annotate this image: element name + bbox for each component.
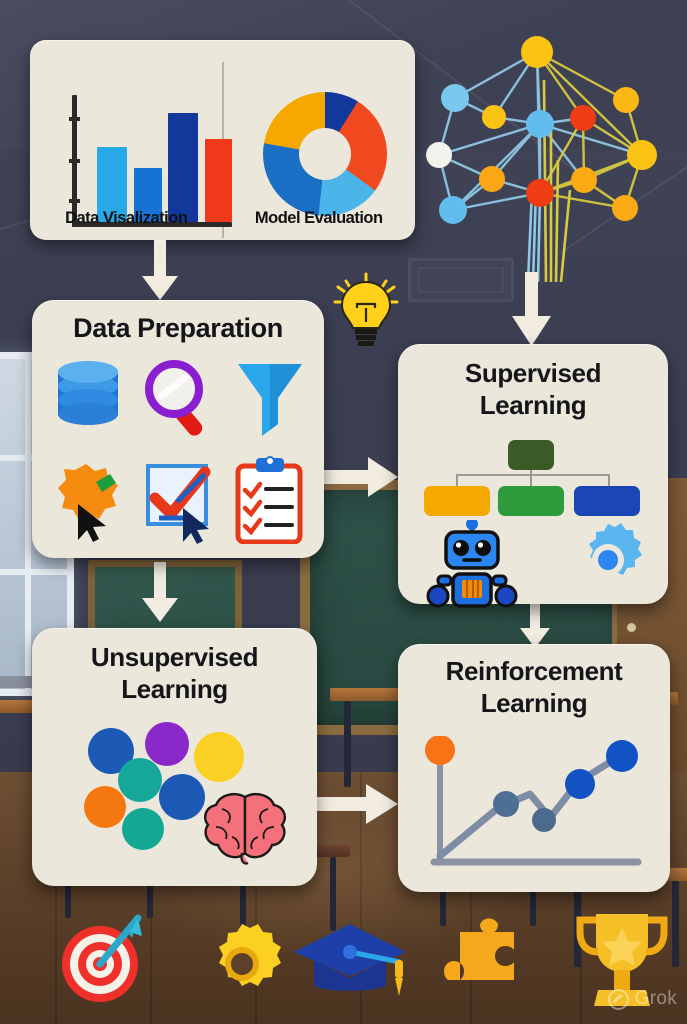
tree-node-orange xyxy=(424,486,490,516)
tree-node-root xyxy=(508,440,554,470)
arrow-prep-to-supervised xyxy=(322,455,400,499)
point-3 xyxy=(565,769,595,799)
robot-icon xyxy=(424,520,520,621)
card-title-data-preparation: Data Preparation xyxy=(32,314,324,342)
gear-icon xyxy=(200,922,284,1011)
card-reinforcement-learning[interactable]: Reinforcement Learning xyxy=(398,644,670,892)
arrow-unsup-to-reinforcement xyxy=(314,782,400,826)
graduation-cap-icon xyxy=(290,918,410,1015)
lightbulb-icon xyxy=(333,272,399,352)
line-chart-icon xyxy=(420,736,652,876)
point-1 xyxy=(493,791,519,817)
card-data-preparation[interactable]: Data Preparation xyxy=(32,300,324,558)
magnifier-icon xyxy=(139,356,219,444)
donut-chart xyxy=(263,92,387,216)
database-icon xyxy=(48,356,128,444)
card-title-supervised-line1: Supervised xyxy=(398,360,668,387)
arrow-prep-to-unsupervised xyxy=(140,562,180,624)
tree-node-green xyxy=(498,486,564,516)
grok-logo-icon xyxy=(608,989,629,1010)
tree-node-blue xyxy=(574,486,640,516)
point-start xyxy=(425,736,455,765)
clipboard-checklist-icon xyxy=(230,456,310,544)
gear-icon xyxy=(570,522,646,603)
puzzle-piece-icon xyxy=(440,918,524,1011)
card-unsupervised-learning[interactable]: Unsupervised Learning xyxy=(32,628,317,886)
checkbox-cursor-icon xyxy=(139,456,219,544)
neural-network-graphic xyxy=(420,20,687,282)
funnel-icon xyxy=(230,356,310,444)
bar-chart xyxy=(72,95,232,227)
card-title-unsupervised-line1: Unsupervised xyxy=(32,644,317,671)
card-supervised-learning[interactable]: Supervised Learning xyxy=(398,344,668,604)
bar-3 xyxy=(168,113,198,222)
point-2 xyxy=(532,808,556,832)
brain-icon xyxy=(200,791,290,870)
watermark: Grok xyxy=(608,988,677,1010)
card-title-unsupervised-line2: Learning xyxy=(32,676,317,703)
label-model-evaluation: Model Evaluation xyxy=(223,209,416,228)
tree-diagram-icon xyxy=(422,440,644,508)
card-title-reinforcement-line1: Reinforcement xyxy=(398,658,670,685)
donut-hole xyxy=(299,128,351,180)
poster-canvas: Data Visalization Model Evaluation xyxy=(0,0,687,1024)
point-4 xyxy=(606,740,638,772)
card-title-supervised-line2: Learning xyxy=(398,392,668,419)
gear-cursor-icon xyxy=(48,456,128,544)
arrow-nn-to-supervised xyxy=(510,272,554,348)
label-data-visualization: Data Visalization xyxy=(30,209,223,228)
card-title-reinforcement-line2: Learning xyxy=(398,690,670,717)
arrow-supervised-to-reinforcement xyxy=(518,598,552,650)
arrow-top-to-prep xyxy=(140,240,180,302)
top-banner-card: Data Visalization Model Evaluation xyxy=(30,40,415,240)
target-dart-icon xyxy=(56,912,148,1009)
watermark-label: Grok xyxy=(635,988,677,1010)
